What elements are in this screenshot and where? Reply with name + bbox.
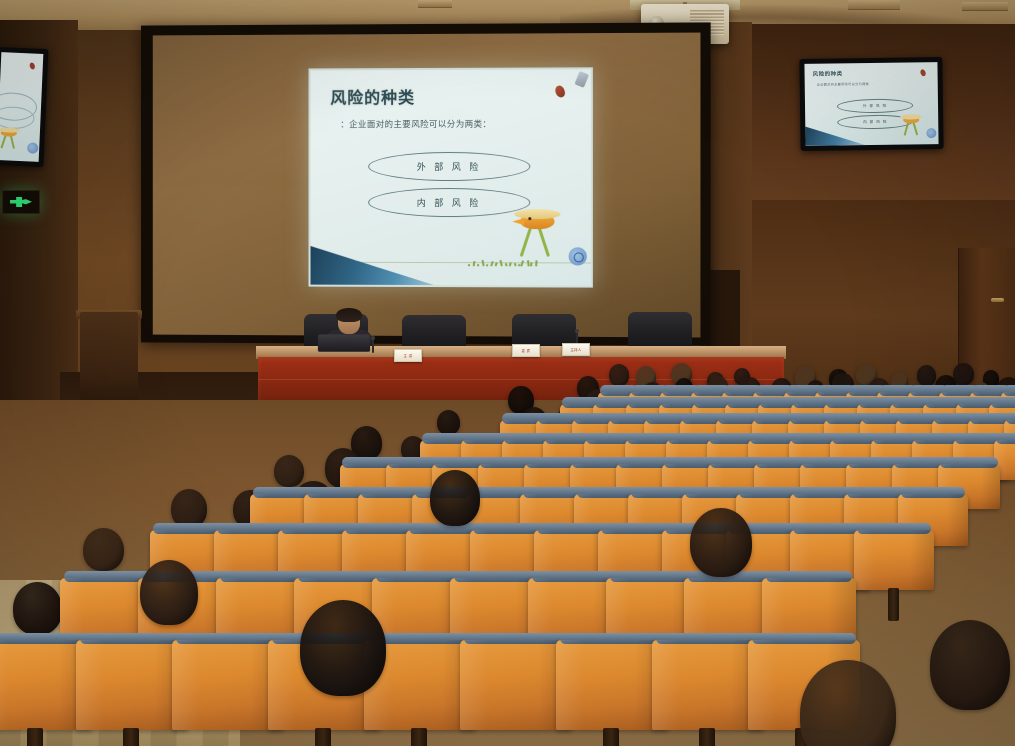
right-wall-monitor: 风险的种类 企业面对的主要风险可以分为两类 外 部 风 险 内 部 风 险 bbox=[799, 57, 943, 151]
laptop bbox=[318, 334, 370, 351]
audience-member-head bbox=[300, 600, 386, 696]
seat-pedestal bbox=[315, 728, 331, 746]
audience-member-head bbox=[609, 364, 629, 386]
running-man-icon bbox=[10, 196, 32, 209]
audience-member-head bbox=[13, 582, 62, 635]
emergency-exit-sign bbox=[2, 190, 40, 214]
bean-icon bbox=[919, 69, 926, 77]
audience-member-head bbox=[953, 363, 974, 385]
projected-slide: 风险的种类 ：企业面对的主要风险可以分为两类： 外 部 风 险 内 部 风 险 bbox=[309, 67, 593, 287]
right-monitor-title: 风险的种类 bbox=[813, 69, 843, 77]
seat-pedestal bbox=[411, 728, 427, 746]
cartoon-snail-icon bbox=[567, 247, 589, 267]
cartoon-bird-icon bbox=[508, 211, 570, 261]
audience-member-head bbox=[83, 528, 124, 572]
cartoon-snail-icon bbox=[926, 128, 936, 138]
auditorium-seat bbox=[854, 530, 934, 590]
slide-oval-internal: 内 部 风 险 bbox=[368, 188, 530, 217]
seat-pedestal bbox=[603, 728, 619, 746]
namecard: 主持人 bbox=[562, 343, 590, 356]
audience-member-head bbox=[690, 508, 752, 577]
slide-subtitle: ：企业面对的主要风险可以分为两类： bbox=[340, 118, 491, 130]
audience-member-head bbox=[930, 620, 1010, 710]
slide-oval-external: 外 部 风 险 bbox=[368, 152, 530, 181]
side-podium bbox=[80, 312, 138, 412]
door-handle-icon bbox=[991, 298, 1004, 302]
left-monitor-screen bbox=[0, 52, 43, 162]
bean-icon bbox=[29, 62, 36, 70]
cartoon-snail-icon bbox=[27, 142, 38, 153]
ceiling-vent bbox=[962, 2, 1008, 11]
lecture-hall-photo: 风险的种类 ：企业面对的主要风险可以分为两类： 外 部 风 险 内 部 风 险 bbox=[0, 0, 1015, 746]
seat-pedestal bbox=[888, 588, 899, 621]
slide-title: 风险的种类 bbox=[330, 84, 415, 108]
left-wall-monitor bbox=[0, 47, 49, 167]
audience-member-head bbox=[274, 455, 304, 487]
projection-screen: 风险的种类 ：企业面对的主要风险可以分为两类： 外 部 风 险 内 部 风 险 bbox=[141, 22, 711, 345]
namecard: 嘉 宾 bbox=[512, 344, 540, 357]
right-monitor-screen: 风险的种类 企业面对的主要风险可以分为两类 外 部 风 险 内 部 风 险 bbox=[804, 62, 938, 146]
cartoon-bird-icon bbox=[0, 128, 22, 149]
audience-member-head bbox=[437, 410, 460, 435]
screen-surface: 风险的种类 ：企业面对的主要风险可以分为两类： 外 部 风 险 内 部 风 险 bbox=[153, 33, 701, 338]
audience-member-head bbox=[430, 470, 480, 526]
slide-blue-wedge bbox=[309, 245, 434, 285]
audience-member-head bbox=[140, 560, 198, 625]
seat-pedestal bbox=[27, 728, 43, 746]
namecard: 主 讲 bbox=[394, 349, 422, 362]
cartoon-bird-icon bbox=[898, 115, 924, 135]
right-monitor-oval-external: 外 部 风 险 bbox=[837, 98, 913, 113]
ceiling-vent bbox=[848, 0, 900, 10]
ceiling-vent bbox=[418, 0, 452, 8]
right-monitor-subtitle: 企业面对的主要风险可以分为两类 bbox=[817, 81, 869, 87]
microphone-icon bbox=[372, 339, 374, 353]
paperclip-icon bbox=[574, 71, 589, 88]
seat-pedestal bbox=[123, 728, 139, 746]
bean-icon bbox=[554, 84, 566, 98]
seat-pedestal bbox=[699, 728, 715, 746]
audience-member-head bbox=[917, 365, 936, 386]
